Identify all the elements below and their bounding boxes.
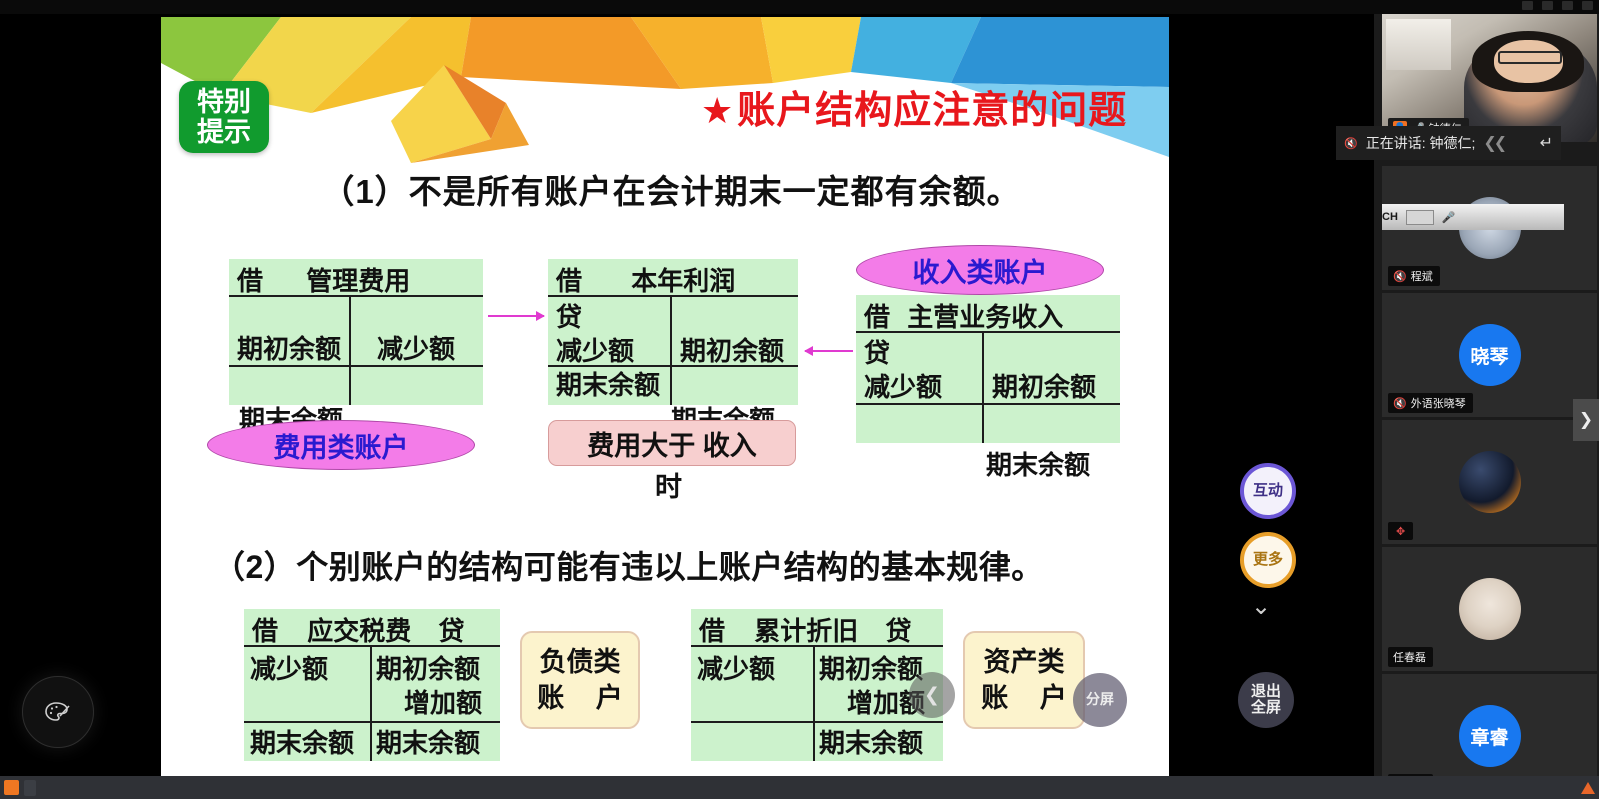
header-rule bbox=[229, 295, 483, 297]
t-cell-debit-0: 期初余额 bbox=[237, 329, 341, 366]
chevron-down-icon[interactable]: ⌄ bbox=[1251, 592, 1271, 621]
credit-label: 贷 bbox=[886, 616, 912, 646]
channel-label: CH bbox=[1382, 211, 1398, 223]
split-screen-button[interactable]: 分屏 bbox=[1073, 673, 1127, 727]
center-divider bbox=[982, 331, 984, 443]
window-controls[interactable] bbox=[1522, 1, 1593, 10]
participant-nametag-1: 🔇 程斌 bbox=[1388, 266, 1440, 286]
pink-box-line-1: 费用大于 收入 bbox=[587, 424, 757, 463]
liability-line-2: 账 户 bbox=[525, 680, 635, 716]
liability-line-1: 负债类 bbox=[540, 644, 621, 680]
t-account-taxes-payable: 借 应交税费 贷 减少额 期初余额 增加额 期末余额 期末余额 bbox=[244, 609, 500, 761]
center-divider bbox=[670, 295, 672, 405]
restore-icon[interactable] bbox=[1542, 1, 1553, 10]
participant-tile-0[interactable]: 👤 🎤 钟德仁 bbox=[1382, 14, 1597, 142]
t-account-management-expense: 借 管理费用 期初余额 减少额 bbox=[229, 259, 483, 405]
participant-rail[interactable]: 👤 🎤 钟德仁 🔇 正在讲话: 钟德仁; ❮❮ ↵ CH 🎤 🔇 程斌 bbox=[1374, 14, 1599, 799]
t-cell-footer-credit: 期末余额 bbox=[376, 723, 480, 760]
audio-display bbox=[1406, 210, 1434, 225]
interact-label: 互动 bbox=[1253, 483, 1283, 499]
t-account-accumulated-depreciation: 借 累计折旧 贷 减少额 期初余额 增加额 期末余额 bbox=[691, 609, 943, 761]
t-cell-credit-0: 期初余额 bbox=[680, 331, 784, 368]
t-cell-credit-0: 期初余额 bbox=[819, 649, 923, 686]
t-account-header: 借 应交税费 贷 bbox=[244, 609, 500, 643]
system-tray[interactable] bbox=[1581, 782, 1595, 794]
center-divider bbox=[370, 645, 372, 761]
app-root: 特别 提示 ★账户结构应注意的问题 （1）不是所有账户在会计期末一定都有余额。 … bbox=[0, 0, 1599, 799]
t-cell-footer-debit: 期末余额 bbox=[250, 723, 354, 760]
header-rule bbox=[244, 645, 500, 647]
t-cell-debit-0: 减少额 bbox=[864, 367, 942, 404]
t-cell-credit-0: 减少额 bbox=[377, 329, 455, 366]
rail-next-button[interactable]: ❯ bbox=[1573, 399, 1599, 441]
participant-nametag-2: 🔇 外语张晓琴 bbox=[1388, 393, 1473, 413]
annotate-button[interactable] bbox=[22, 676, 94, 748]
revenue-account-oval: 收入类账户 bbox=[856, 245, 1104, 295]
debit-label: 借 bbox=[699, 616, 725, 646]
slide-title: ★账户结构应注意的问题 bbox=[701, 79, 1151, 134]
center-divider bbox=[349, 295, 351, 405]
glasses-icon bbox=[1498, 51, 1562, 64]
split-screen-label: 分屏 bbox=[1086, 692, 1114, 707]
reply-icon[interactable]: ↵ bbox=[1540, 133, 1553, 153]
taskbar[interactable] bbox=[0, 776, 1599, 799]
slide-title-text: 账户结构应注意的问题 bbox=[737, 90, 1127, 132]
expense-exceeds-revenue-line2: 时 bbox=[655, 465, 682, 504]
account-title: 本年利润 bbox=[631, 266, 735, 296]
header-rule bbox=[548, 295, 798, 297]
mic-muted-icon: 🔇 bbox=[1393, 270, 1407, 283]
debit-label: 借 bbox=[237, 266, 263, 296]
chevron-right-icon: ❯ bbox=[1579, 410, 1593, 430]
chevron-left-icon: ❮ bbox=[924, 684, 940, 707]
warning-triangle-icon[interactable] bbox=[1581, 782, 1595, 794]
header-rule bbox=[856, 331, 1120, 333]
exit-fullscreen-button[interactable]: 退出 全屏 bbox=[1238, 672, 1294, 728]
credit-marker: 贷 bbox=[556, 297, 582, 334]
debit-label: 借 bbox=[252, 616, 278, 646]
taskbar-item[interactable] bbox=[24, 780, 36, 796]
debit-label: 借 bbox=[864, 302, 890, 332]
arrow-expense-to-profit bbox=[488, 315, 544, 317]
t-account-main-operating-revenue: 借 主营业务收入 贷 减少额 期初余额 bbox=[856, 295, 1120, 443]
mic-muted-icon: 🔇 bbox=[1393, 397, 1407, 410]
participant-avatar-5: 章睿 bbox=[1459, 705, 1521, 767]
t-cell-debit-0: 减少额 bbox=[250, 649, 328, 686]
close-icon[interactable] bbox=[1582, 1, 1593, 10]
speaking-label: 正在讲话: 钟德仁; bbox=[1366, 133, 1476, 153]
t-account-current-year-profit: 借 本年利润 贷 减少额 期末余额 期初余额 bbox=[548, 259, 798, 405]
asset-line-1: 资产类 bbox=[984, 644, 1065, 680]
start-icon[interactable] bbox=[4, 780, 19, 795]
header-rule bbox=[691, 645, 943, 647]
participant-tile-2[interactable]: 晓琴 🔇 外语张晓琴 bbox=[1382, 293, 1597, 417]
participant-tile-1[interactable]: CH 🎤 🔇 程斌 bbox=[1382, 166, 1597, 290]
credit-marker: 贷 bbox=[864, 333, 890, 370]
maximize-icon[interactable] bbox=[1562, 1, 1573, 10]
more-label: 更多 bbox=[1253, 552, 1283, 568]
t-account-header: 借 管理费用 bbox=[229, 259, 483, 293]
participant-avatar-2: 晓琴 bbox=[1459, 324, 1521, 386]
t-cell-debit-0: 减少额 bbox=[556, 331, 634, 368]
participant-name-1: 程斌 bbox=[1411, 268, 1433, 284]
t-cell-footer-credit: 期末余额 bbox=[819, 723, 923, 760]
t-cell-credit-0: 期初余额 bbox=[992, 367, 1096, 404]
participant-name-4: 任春磊 bbox=[1393, 649, 1426, 665]
expense-exceeds-revenue-box: 费用大于 收入 bbox=[548, 420, 796, 466]
more-button[interactable]: 更多 bbox=[1240, 532, 1296, 588]
point-1-text: （1）不是所有账户在会计期末一定都有余额。 bbox=[221, 165, 1121, 213]
t-cell-credit-0: 期初余额 bbox=[376, 649, 480, 686]
t-account-header: 借 主营业务收入 bbox=[856, 295, 1120, 329]
background-lamp bbox=[1386, 19, 1451, 70]
debit-label: 借 bbox=[556, 266, 582, 296]
t-account-header: 借 累计折旧 贷 bbox=[691, 609, 943, 643]
interact-button[interactable]: 互动 bbox=[1240, 463, 1296, 519]
participant-avatar-3 bbox=[1459, 451, 1521, 513]
star-icon: ★ bbox=[701, 90, 734, 131]
exit-fullscreen-line-2: 全屏 bbox=[1251, 700, 1281, 716]
participant-name-2: 外语张晓琴 bbox=[1411, 395, 1466, 411]
account-title: 管理费用 bbox=[306, 266, 410, 296]
t-cell-debit-0: 减少额 bbox=[697, 649, 775, 686]
arrow-revenue-to-profit bbox=[805, 350, 853, 352]
prev-slide-button[interactable]: ❮ bbox=[909, 672, 955, 718]
speaking-indicator-bar: 🔇 正在讲话: 钟德仁; ❮❮ ↵ bbox=[1336, 126, 1561, 160]
double-chevron-icon: ❮❮ bbox=[1483, 133, 1504, 153]
center-divider bbox=[813, 645, 815, 761]
palette-icon bbox=[42, 696, 74, 728]
special-tip-badge: 特别 提示 bbox=[179, 81, 269, 153]
asset-line-2: 账 户 bbox=[969, 680, 1079, 716]
t-cell-debit-1: 期末余额 bbox=[556, 365, 660, 402]
minimize-icon[interactable] bbox=[1522, 1, 1533, 10]
shared-slide[interactable]: 特别 提示 ★账户结构应注意的问题 （1）不是所有账户在会计期末一定都有余额。 … bbox=[161, 17, 1169, 771]
participant-tile-3[interactable]: ✥ bbox=[1382, 420, 1597, 544]
exit-fullscreen-line-1: 退出 bbox=[1251, 684, 1281, 700]
account-title: 应交税费 bbox=[307, 616, 411, 646]
participant-nametag-4: 任春磊 bbox=[1388, 647, 1433, 667]
expense-account-oval: 费用类账户 bbox=[207, 420, 475, 470]
point-2-text: （2）个别账户的结构可能有违以上账户结构的基本规律。 bbox=[213, 542, 1044, 588]
credit-label: 贷 bbox=[439, 616, 465, 646]
participant-nametag-3: ✥ bbox=[1388, 522, 1413, 540]
t-cell-credit-1: 增加额 bbox=[404, 683, 482, 720]
t-account-header: 借 本年利润 bbox=[548, 259, 798, 293]
account-title: 累计折旧 bbox=[754, 616, 858, 646]
badge-line-2: 提示 bbox=[197, 117, 251, 147]
participant-tile-4[interactable]: 任春磊 bbox=[1382, 547, 1597, 671]
t-account-3-below-balance: 期末余额 bbox=[986, 445, 1090, 482]
window-titlebar bbox=[0, 0, 1599, 14]
mic-muted-icon: 🔇 bbox=[1344, 137, 1358, 150]
asset-account-box: 资产类 账 户 bbox=[963, 631, 1085, 729]
badge-line-1: 特别 bbox=[197, 87, 251, 117]
participant-avatar-4 bbox=[1459, 578, 1521, 640]
liability-account-box: 负债类 账 户 bbox=[520, 631, 640, 729]
audio-device-widget: CH 🎤 bbox=[1382, 204, 1564, 230]
microphone-icon: 🎤 bbox=[1442, 211, 1456, 224]
account-title: 主营业务收入 bbox=[907, 302, 1063, 332]
mic-muted-icon: ✥ bbox=[1396, 526, 1405, 538]
